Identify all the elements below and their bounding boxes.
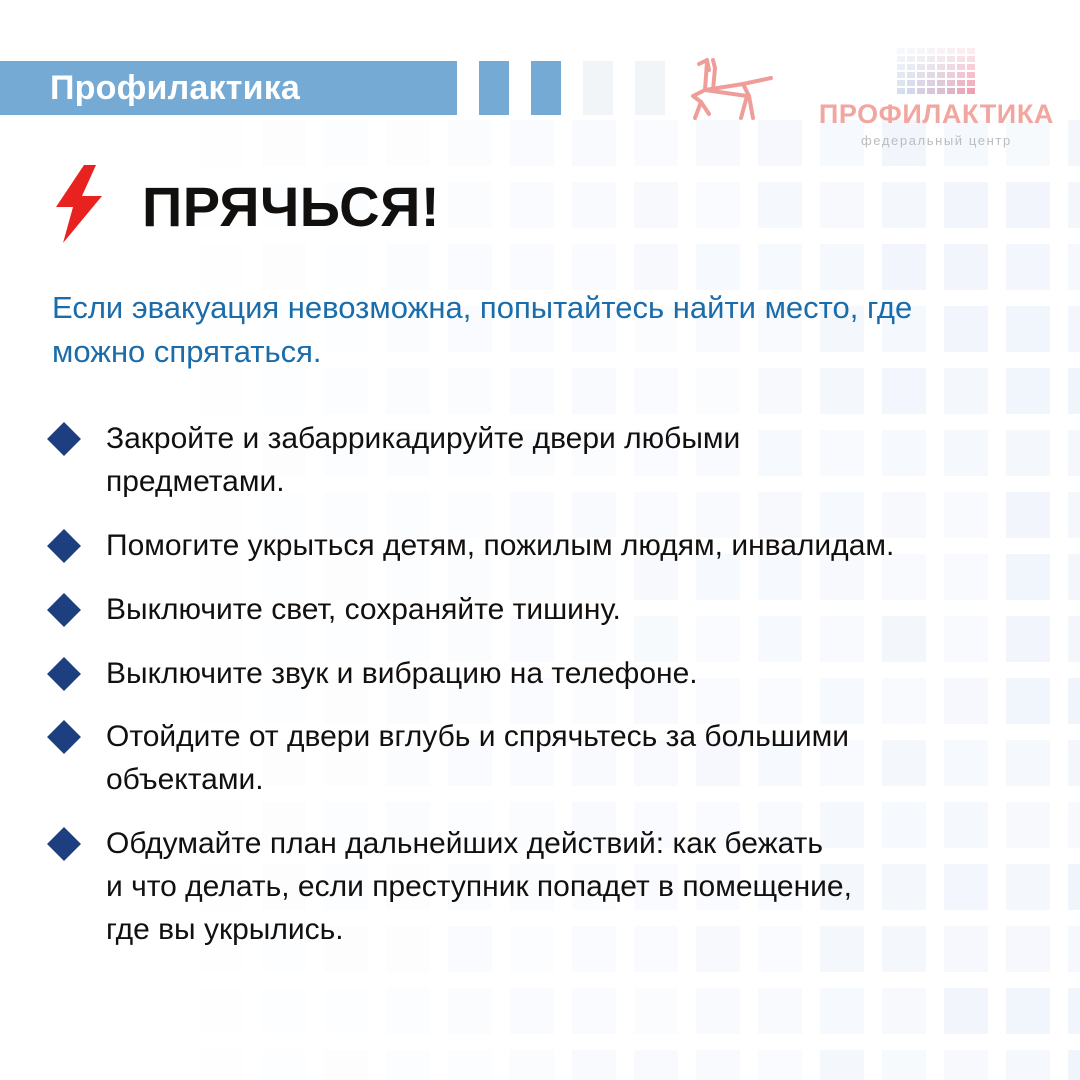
brand-dot-matrix-icon <box>897 48 975 94</box>
header-block-solid-1 <box>479 61 509 115</box>
brand-dot <box>917 64 925 70</box>
brand-text-block: ПРОФИЛАКТИКА федеральный центр <box>819 48 1054 148</box>
header-band: Профилактика <box>0 61 665 115</box>
brand-dot <box>927 64 935 70</box>
brand-dot <box>957 56 965 62</box>
brand-logo: ПРОФИЛАКТИКА федеральный центр <box>685 48 1054 148</box>
brand-dot <box>937 64 945 70</box>
brand-dot <box>937 80 945 86</box>
diamond-bullet-icon <box>47 657 81 691</box>
diamond-bullet-icon <box>47 593 81 627</box>
brand-dot <box>957 48 965 54</box>
diamond-bullet-icon <box>47 422 81 456</box>
brand-name: ПРОФИЛАКТИКА <box>819 101 1054 128</box>
advice-bullet-list: Закройте и забаррикадируйте двери любыми… <box>52 418 1037 973</box>
brand-dot <box>947 88 955 94</box>
brand-dot <box>907 48 915 54</box>
brand-dot <box>907 56 915 62</box>
bullet-item: Закройте и забаррикадируйте двери любыми… <box>52 418 1037 504</box>
brand-dot <box>927 88 935 94</box>
brand-dot <box>957 64 965 70</box>
deer-icon <box>685 56 775 127</box>
brand-dot <box>947 80 955 86</box>
bullet-item-label: Выключите звук и вибрацию на телефоне. <box>106 653 1037 696</box>
brand-dot <box>947 56 955 62</box>
lightning-bolt-icon <box>52 163 106 250</box>
brand-dot <box>897 48 905 54</box>
brand-dot <box>937 72 945 78</box>
header-title: Профилактика <box>50 69 300 108</box>
brand-dot <box>927 72 935 78</box>
brand-dot <box>937 56 945 62</box>
poster-canvas: Профилактика <box>0 0 1080 1080</box>
diamond-bullet-icon <box>47 827 81 861</box>
brand-dot <box>927 48 935 54</box>
brand-dot <box>967 80 975 86</box>
header-block-faint-2 <box>635 61 665 115</box>
diamond-bullet-icon <box>47 720 81 754</box>
bullet-item: Помогите укрыться детям, пожилым людям, … <box>52 525 1037 568</box>
brand-dot <box>937 48 945 54</box>
brand-dot <box>967 56 975 62</box>
brand-dot <box>967 64 975 70</box>
bullet-item-label: Обдумайте план дальнейших действий: как … <box>106 823 1037 952</box>
brand-dot <box>897 64 905 70</box>
brand-dot <box>957 80 965 86</box>
brand-dot <box>917 80 925 86</box>
brand-dot <box>917 88 925 94</box>
bullet-item-label: Закройте и забаррикадируйте двери любыми… <box>106 418 1037 504</box>
header-decorative-blocks <box>457 61 665 115</box>
brand-dot <box>897 56 905 62</box>
brand-dot <box>917 72 925 78</box>
brand-dot <box>947 72 955 78</box>
brand-dot <box>967 88 975 94</box>
brand-dot <box>907 80 915 86</box>
header-block-solid-2 <box>531 61 561 115</box>
header-title-bar: Профилактика <box>0 61 457 115</box>
brand-dot <box>897 72 905 78</box>
brand-dot <box>967 72 975 78</box>
bullet-item: Отойдите от двери вглубь и спрячьтесь за… <box>52 716 1037 802</box>
page-title: ПРЯЧЬСЯ! <box>142 179 440 235</box>
bullet-item-label: Отойдите от двери вглубь и спрячьтесь за… <box>106 716 1037 802</box>
brand-dot <box>957 72 965 78</box>
main-title-row: ПРЯЧЬСЯ! <box>52 163 440 250</box>
brand-dot <box>907 88 915 94</box>
bullet-item-label: Выключите свет, сохраняйте тишину. <box>106 589 1037 632</box>
bullet-item: Обдумайте план дальнейших действий: как … <box>52 823 1037 952</box>
header-block-faint-1 <box>583 61 613 115</box>
brand-subtitle: федеральный центр <box>861 133 1012 148</box>
brand-dot <box>957 88 965 94</box>
brand-dot <box>927 80 935 86</box>
brand-dot <box>947 48 955 54</box>
brand-dot <box>967 48 975 54</box>
brand-dot <box>927 56 935 62</box>
bullet-item: Выключите звук и вибрацию на телефоне. <box>52 653 1037 696</box>
brand-dot <box>897 88 905 94</box>
brand-dot <box>897 80 905 86</box>
bullet-item-label: Помогите укрыться детям, пожилым людям, … <box>106 525 1037 568</box>
diamond-bullet-icon <box>47 529 81 563</box>
brand-dot <box>947 64 955 70</box>
brand-dot <box>917 56 925 62</box>
bullet-item: Выключите свет, сохраняйте тишину. <box>52 589 1037 632</box>
brand-dot <box>937 88 945 94</box>
brand-dot <box>917 48 925 54</box>
subtitle-text: Если эвакуация невозможна, попытайтесь н… <box>52 286 1012 374</box>
brand-dot <box>907 72 915 78</box>
brand-dot <box>907 64 915 70</box>
